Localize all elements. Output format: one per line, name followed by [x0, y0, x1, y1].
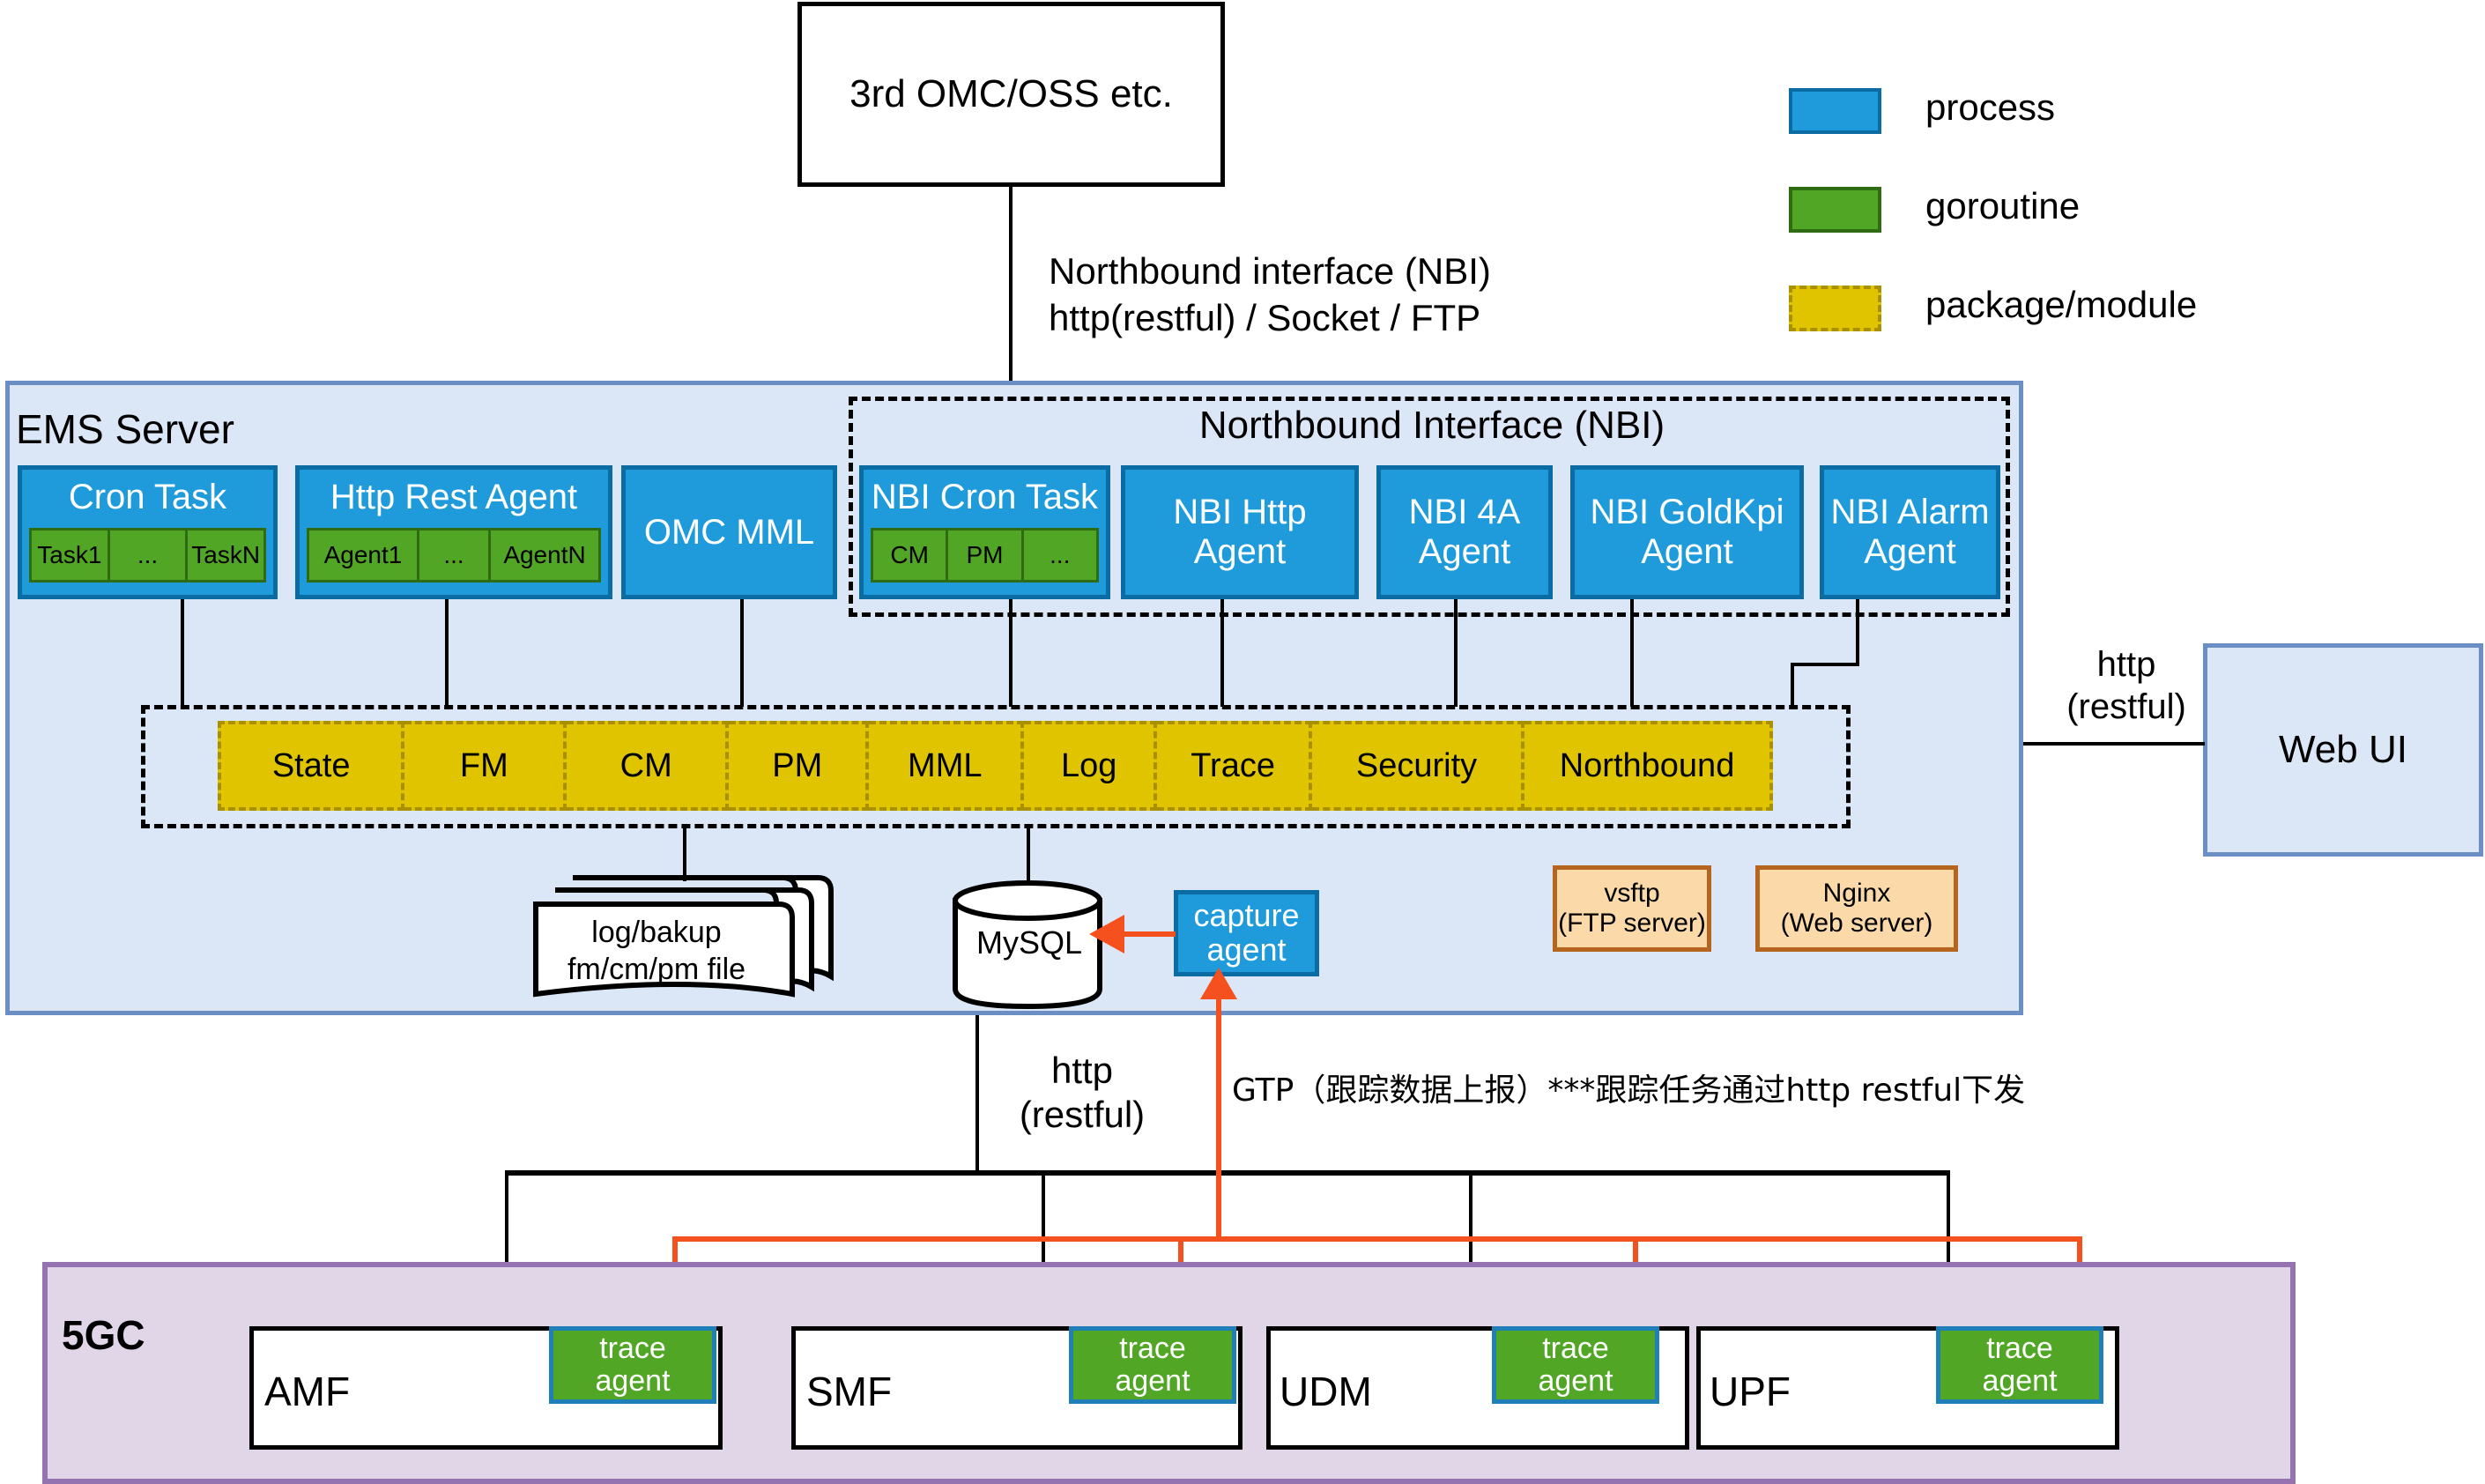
trace-agent-upf-line1: trace	[1982, 1332, 2057, 1365]
trace-agent-udm[interactable]: trace agent	[1492, 1326, 1659, 1404]
module-log[interactable]: Log	[1024, 721, 1157, 811]
trace-agent-upf[interactable]: trace agent	[1936, 1326, 2103, 1404]
process-nbi-cron-task-label: NBI Cron Task	[864, 475, 1106, 519]
legend-swatch-package-module	[1789, 286, 1881, 331]
process-cron-task[interactable]: Cron Task Task1 ... TaskN	[18, 465, 278, 599]
process-nbi-goldkpi-agent-line1: NBI GoldKpi	[1590, 493, 1784, 532]
process-http-rest-agent-goroutines: Agent1 ... AgentN	[307, 528, 601, 582]
trace-agent-amf[interactable]: trace agent	[549, 1326, 716, 1404]
process-capture-agent[interactable]: capture agent	[1174, 890, 1319, 976]
trace-agent-amf-line1: trace	[595, 1332, 670, 1365]
goroutine-cell[interactable]: AgentN	[491, 528, 601, 582]
server-vsftp[interactable]: vsftp (FTP server)	[1553, 865, 1711, 952]
connector-nbi-http-to-modules	[1220, 599, 1224, 707]
module-northbound[interactable]: Northbound	[1524, 721, 1773, 811]
module-mml[interactable]: MML	[869, 721, 1024, 811]
connector-trace-to-mysql	[1027, 827, 1030, 881]
architecture-diagram: 3rd OMC/OSS etc. Northbound interface (N…	[0, 0, 2485, 1484]
capture-agent-line1: capture	[1193, 899, 1299, 933]
process-cron-task-goroutines: Task1 ... TaskN	[29, 528, 266, 582]
trace-agent-udm-line1: trace	[1538, 1332, 1613, 1365]
process-http-rest-agent[interactable]: Http Rest Agent Agent1 ... AgentN	[295, 465, 612, 599]
process-http-rest-agent-label: Http Rest Agent	[300, 475, 608, 519]
module-cm[interactable]: CM	[567, 721, 729, 811]
process-nbi-cron-task[interactable]: NBI Cron Task CM PM ...	[859, 465, 1110, 599]
gtp-trunk	[1216, 992, 1221, 1239]
legend-swatch-process	[1789, 88, 1881, 134]
gtp-note-label: GTP（跟踪数据上报）***跟踪任务通过http restful下发	[1232, 1065, 2025, 1110]
gtp-bus	[672, 1236, 2082, 1242]
fivegc-node-amf-label: AMF	[264, 1368, 350, 1415]
goroutine-cell[interactable]: TaskN	[188, 528, 266, 582]
fivegc-node-upf-label: UPF	[1710, 1368, 1791, 1415]
web-ui-link-line1: http	[2043, 643, 2210, 686]
process-nbi-cron-task-goroutines: CM PM ...	[871, 528, 1099, 582]
fivegc-title: 5GC	[62, 1311, 145, 1359]
fivegc-node-udm-label: UDM	[1280, 1368, 1372, 1415]
mysql-label: MySQL	[959, 925, 1100, 961]
process-cron-task-label: Cron Task	[22, 475, 273, 519]
process-nbi-alarm-agent[interactable]: NBI Alarm Agent	[1820, 465, 2000, 599]
goroutine-cell[interactable]: ...	[110, 528, 189, 582]
goroutine-cell[interactable]: Task1	[29, 528, 110, 582]
module-trace[interactable]: Trace	[1157, 721, 1312, 811]
process-nbi-4a-agent-line1: NBI 4A	[1409, 493, 1521, 532]
external-system-label: 3rd OMC/OSS etc.	[849, 72, 1173, 115]
module-bar: State FM CM PM MML Log Trace Security No…	[218, 721, 1773, 811]
module-security[interactable]: Security	[1312, 721, 1524, 811]
goroutine-cell[interactable]: Agent1	[307, 528, 419, 582]
external-system-box: 3rd OMC/OSS etc.	[797, 2, 1225, 187]
southbound-http-trunk	[975, 1015, 979, 1174]
process-nbi-4a-agent-line2: Agent	[1409, 532, 1521, 572]
capture-to-mysql-arrowhead	[1089, 915, 1124, 953]
legend-label-goroutine: goroutine	[1925, 185, 2080, 227]
goroutine-cell[interactable]: PM	[948, 528, 1023, 582]
southbound-http-label: http (restful)	[994, 1049, 1170, 1138]
module-state[interactable]: State	[218, 721, 404, 811]
southbound-bus	[505, 1170, 1950, 1176]
goroutine-cell[interactable]: CM	[871, 528, 948, 582]
connector-nbi-cron-to-modules	[1009, 599, 1013, 707]
legend-label-package-module: package/module	[1925, 284, 2197, 326]
southbound-http-line1: http	[994, 1049, 1170, 1093]
nbi-link-line1: Northbound interface (NBI)	[1049, 249, 1630, 295]
vsftp-line1: vsftp	[1558, 879, 1706, 909]
legend-swatch-goroutine	[1789, 187, 1881, 233]
web-ui-connector-line	[2023, 742, 2205, 746]
process-nbi-goldkpi-agent[interactable]: NBI GoldKpi Agent	[1570, 465, 1804, 599]
log-backup-file-stack: log/bakup fm/cm/pm file	[527, 862, 844, 1003]
module-fm[interactable]: FM	[404, 721, 567, 811]
goroutine-cell[interactable]: ...	[1024, 528, 1099, 582]
trace-agent-amf-line2: agent	[595, 1365, 670, 1398]
web-ui-link-label: http (restful)	[2043, 643, 2210, 728]
capture-to-mysql-line	[1117, 931, 1176, 937]
connector-nbi-alarm-seg2	[1791, 663, 1859, 666]
connector-nbi-4a-to-modules	[1454, 599, 1458, 707]
trace-agent-smf-line2: agent	[1115, 1365, 1190, 1398]
gtp-trunk-arrowhead	[1200, 968, 1237, 999]
process-omc-mml[interactable]: OMC MML	[621, 465, 837, 599]
trace-agent-udm-line2: agent	[1538, 1365, 1613, 1398]
nbi-group-title: Northbound Interface (NBI)	[881, 404, 1983, 448]
connector-nbi-goldkpi-to-modules	[1630, 599, 1634, 707]
connector-nbi-alarm-seg1	[1856, 599, 1859, 666]
ems-server-title: EMS Server	[16, 405, 234, 453]
process-nbi-http-agent[interactable]: NBI Http Agent NBI Http Agent	[1121, 465, 1359, 599]
process-nbi-http-agent-line2: Agent	[1173, 532, 1306, 572]
nbi-link-label: Northbound interface (NBI) http(restful)…	[1049, 249, 1630, 341]
module-pm[interactable]: PM	[729, 721, 869, 811]
capture-agent-line2: agent	[1193, 933, 1299, 968]
connector-omc-mml-to-modules	[740, 599, 744, 707]
file-label-line1: log/bakup	[546, 916, 767, 948]
vsftp-line2: (FTP server)	[1558, 909, 1706, 939]
nginx-line2: (Web server)	[1781, 909, 1933, 939]
file-label-line2: fm/cm/pm file	[546, 953, 767, 985]
connector-http-rest-to-modules	[445, 599, 449, 707]
nbi-link-line2: http(restful) / Socket / FTP	[1049, 295, 1630, 342]
fivegc-node-smf-label: SMF	[806, 1368, 892, 1415]
web-ui-label: Web UI	[2279, 728, 2407, 771]
process-nbi-alarm-agent-line1: NBI Alarm	[1830, 493, 1989, 532]
trace-agent-smf-line1: trace	[1115, 1332, 1190, 1365]
legend: process goroutine package/module	[1789, 86, 2441, 342]
process-nbi-goldkpi-agent-line2: Agent	[1590, 532, 1784, 572]
connector-nbi-alarm-seg3	[1791, 663, 1794, 709]
legend-label-process: process	[1925, 86, 2055, 129]
process-nbi-alarm-agent-line2: Agent	[1830, 532, 1989, 572]
process-omc-mml-label: OMC MML	[644, 513, 814, 553]
web-ui-box[interactable]: Web UI	[2203, 643, 2483, 857]
server-nginx[interactable]: Nginx (Web server)	[1755, 865, 1958, 952]
process-nbi-http-agent-line1: NBI Http	[1173, 493, 1306, 532]
process-nbi-4a-agent[interactable]: NBI 4A Agent	[1376, 465, 1553, 599]
trace-agent-upf-line2: agent	[1982, 1365, 2057, 1398]
nginx-line1: Nginx	[1781, 879, 1933, 909]
trace-agent-smf[interactable]: trace agent	[1069, 1326, 1236, 1404]
southbound-http-line2: (restful)	[994, 1093, 1170, 1137]
gtp-note-text: GTP（跟踪数据上报）***跟踪任务通过http restful下发	[1232, 1072, 2025, 1109]
mysql-database: MySQL	[950, 879, 1109, 1010]
web-ui-link-line2: (restful)	[2043, 686, 2210, 728]
connector-cron-task-to-modules	[181, 599, 184, 707]
goroutine-cell[interactable]: ...	[419, 528, 491, 582]
